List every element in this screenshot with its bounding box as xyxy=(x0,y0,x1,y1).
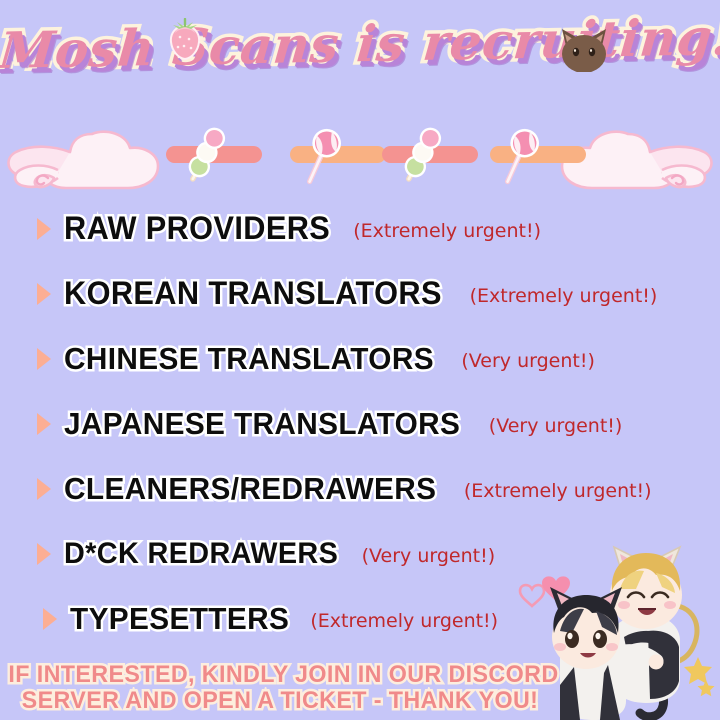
role-name: KOREAN TRANSLATORS xyxy=(64,275,442,312)
strawberry-icon xyxy=(166,18,204,60)
footer-line-2: SERVER AND OPEN A TICKET - THANK YOU! xyxy=(8,688,551,714)
role-urgency: (Extremely urgent!) xyxy=(464,480,652,502)
role-urgency: (Very urgent!) xyxy=(461,350,595,372)
role-urgency: (Very urgent!) xyxy=(489,415,623,437)
chevron-right-icon xyxy=(34,411,54,437)
chibi-mascots-illustration xyxy=(516,545,716,720)
role-row: JAPANESE TRANSLATORS (Very urgent!) xyxy=(0,391,720,456)
footer-cta: IF INTERESTED, KINDLY JOIN IN OUR DISCOR… xyxy=(0,662,560,714)
role-name: CHINESE TRANSLATORS xyxy=(64,341,434,377)
role-name: RAW PROVIDERS xyxy=(64,210,330,247)
role-row: CHINESE TRANSLATORS (Very urgent!) xyxy=(0,326,720,391)
lollipop-icon xyxy=(294,124,348,188)
chevron-right-icon xyxy=(34,216,54,242)
role-urgency: (Very urgent!) xyxy=(362,545,496,567)
recruitment-poster: Mosh Scans is recruiting! xyxy=(0,0,720,720)
chevron-right-icon xyxy=(34,541,54,567)
cat-head-icon xyxy=(556,26,612,72)
chevron-right-icon xyxy=(34,476,54,502)
footer-line-1: IF INTERESTED, KINDLY JOIN IN OUR DISCOR… xyxy=(8,662,551,688)
role-row: CLEANERS/REDRAWERS (Extremely urgent!) xyxy=(0,456,720,521)
lollipop-icon xyxy=(492,124,546,188)
dango-skewer-icon xyxy=(394,124,448,188)
divider-strip xyxy=(0,108,720,200)
chevron-right-icon xyxy=(34,281,54,307)
role-urgency: (Extremely urgent!) xyxy=(470,285,658,307)
role-row: KOREAN TRANSLATORS (Extremely urgent!) xyxy=(0,261,720,326)
winged-cloud-icon xyxy=(2,112,182,198)
role-urgency: (Extremely urgent!) xyxy=(353,220,541,242)
role-urgency: (Extremely urgent!) xyxy=(310,610,498,632)
role-name: D*CK REDRAWERS xyxy=(64,537,338,571)
role-name: TYPESETTERS xyxy=(70,601,289,637)
chevron-right-icon xyxy=(40,606,60,632)
title-zone: Mosh Scans is recruiting! xyxy=(0,14,720,110)
dango-skewer-icon xyxy=(178,124,232,188)
role-row: RAW PROVIDERS (Extremely urgent!) xyxy=(0,196,720,261)
page-title: Mosh Scans is recruiting! xyxy=(0,7,720,80)
chevron-right-icon xyxy=(34,346,54,372)
role-name: JAPANESE TRANSLATORS xyxy=(64,406,460,442)
role-name: CLEANERS/REDRAWERS xyxy=(64,471,436,507)
